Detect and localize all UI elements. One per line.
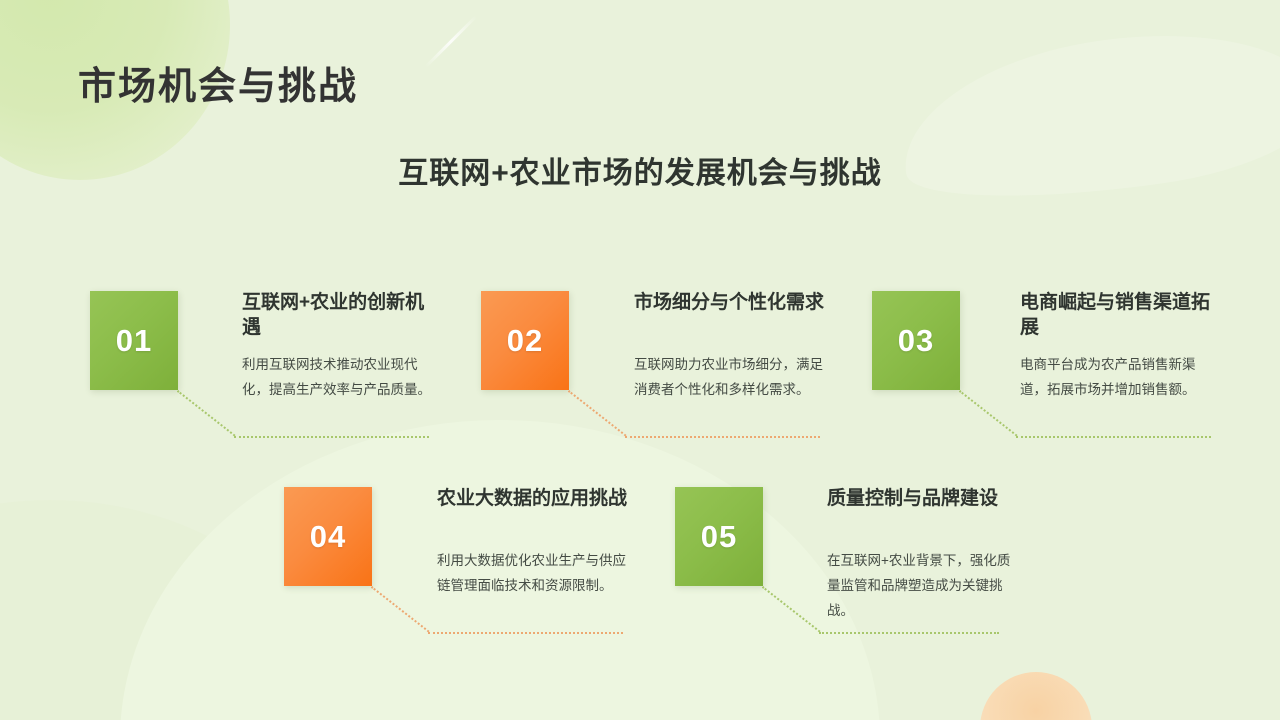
card-desc-05: 在互联网+农业背景下，强化质量监管和品牌塑造成为关键挑战。: [827, 548, 1023, 623]
connector-diagonal-05: [762, 586, 821, 633]
slide-canvas: 市场机会与挑战 互联网+农业市场的发展机会与挑战 01 互联网+农业的创新机遇 …: [0, 0, 1280, 720]
number-label-04: 04: [310, 519, 346, 555]
card-title-02: 市场细分与个性化需求: [634, 290, 829, 315]
connector-diagonal-03: [959, 390, 1018, 437]
number-box-03[interactable]: 03: [872, 291, 960, 390]
connector-horizontal-01: [234, 436, 429, 438]
number-box-01[interactable]: 01: [90, 291, 178, 390]
connector-horizontal-03: [1016, 436, 1211, 438]
card-desc-04: 利用大数据优化农业生产与供应链管理面临技术和资源限制。: [437, 548, 633, 598]
number-label-03: 03: [898, 323, 934, 359]
connector-horizontal-02: [625, 436, 820, 438]
number-label-05: 05: [701, 519, 737, 555]
number-label-01: 01: [116, 323, 152, 359]
card-desc-01: 利用互联网技术推动农业现代化，提高生产效率与产品质量。: [242, 352, 438, 402]
number-box-04[interactable]: 04: [284, 487, 372, 586]
connector-diagonal-01: [177, 390, 236, 437]
card-title-03: 电商崛起与销售渠道拓展: [1020, 290, 1215, 340]
background-circle-bottom-right: [980, 672, 1092, 720]
connector-horizontal-04: [428, 632, 623, 634]
connector-horizontal-05: [819, 632, 999, 634]
card-desc-02: 互联网助力农业市场细分，满足消费者个性化和多样化需求。: [634, 352, 830, 402]
number-box-02[interactable]: 02: [481, 291, 569, 390]
card-title-01: 互联网+农业的创新机遇: [242, 290, 437, 340]
number-box-05[interactable]: 05: [675, 487, 763, 586]
connector-diagonal-02: [568, 390, 627, 437]
number-label-02: 02: [507, 323, 543, 359]
section-subtitle: 互联网+农业市场的发展机会与挑战: [0, 148, 1280, 192]
card-title-04: 农业大数据的应用挑战: [437, 486, 632, 511]
card-desc-03: 电商平台成为农产品销售新渠道，拓展市场并增加销售额。: [1020, 352, 1216, 402]
background-streak-diagonal: [424, 15, 477, 68]
page-title: 市场机会与挑战: [78, 55, 358, 110]
card-title-05: 质量控制与品牌建设: [827, 486, 1022, 511]
connector-diagonal-04: [371, 586, 430, 633]
